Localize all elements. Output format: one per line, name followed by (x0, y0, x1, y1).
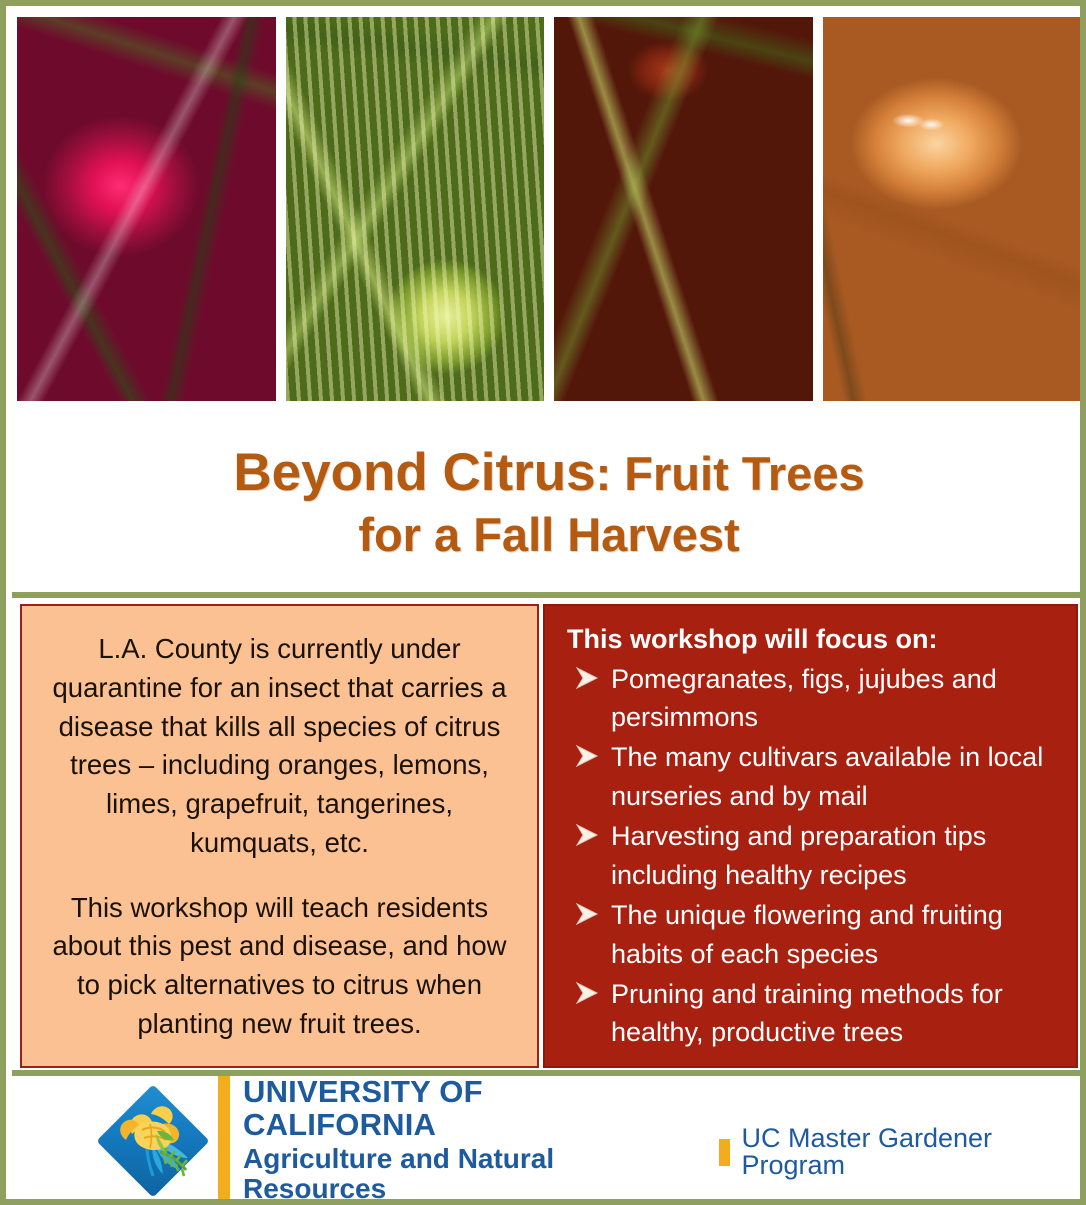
quarantine-paragraph-1: L.A. County is currently under quarantin… (44, 630, 515, 863)
flyer-page: Beyond Citrus: Fruit Trees for a Fall Ha… (0, 0, 1086, 1205)
uc-anr-logo-icon (102, 1090, 204, 1192)
title-divider (12, 592, 1086, 598)
quarantine-paragraph-2: This workshop will teach residents about… (44, 889, 515, 1044)
arrow-bullet-icon (571, 741, 601, 771)
list-item-label: Harvesting and preparation tips includin… (611, 821, 986, 890)
page-title-remainder: : Fruit Trees (596, 447, 865, 500)
list-item: Pomegranates, figs, jujubes and persimmo… (563, 660, 1062, 738)
master-gardener-program-label: UC Master Gardener Program (719, 1125, 1086, 1179)
page-title-line-2: for a Fall Harvest (358, 506, 739, 563)
university-name: UNIVERSITY OF CALIFORNIA (243, 1076, 683, 1142)
page-title-line-1: Beyond Citrus: Fruit Trees (233, 441, 864, 506)
photo-strip (12, 12, 1086, 402)
footer: UNIVERSITY OF CALIFORNIA Agriculture and… (12, 1076, 1086, 1205)
page-title-emphasis: Beyond Citrus (233, 443, 595, 502)
jujube-photo (553, 16, 814, 402)
uc-anr-wordmark: UNIVERSITY OF CALIFORNIA Agriculture and… (218, 1076, 683, 1205)
list-item: The many cultivars available in local nu… (563, 738, 1062, 816)
arrow-bullet-icon (571, 978, 601, 1008)
arrow-bullet-icon (571, 663, 601, 693)
quarantine-info-box: L.A. County is currently under quarantin… (20, 604, 539, 1068)
arrow-bullet-icon (571, 820, 601, 850)
gold-bar-accent (218, 1076, 230, 1205)
division-name: Agriculture and Natural Resources (243, 1144, 683, 1205)
gold-bar-accent-small (719, 1139, 730, 1166)
list-item-label: The unique flowering and fruiting habits… (611, 900, 1003, 969)
persimmon-photo (822, 16, 1083, 402)
workshop-focus-list: Pomegranates, figs, jujubes and persimmo… (563, 660, 1062, 1053)
list-item: Harvesting and preparation tips includin… (563, 817, 1062, 895)
content-row: L.A. County is currently under quarantin… (12, 604, 1086, 1070)
title-block: Beyond Citrus: Fruit Trees for a Fall Ha… (12, 414, 1086, 590)
fig-photo (285, 16, 546, 402)
program-name: UC Master Gardener Program (741, 1125, 1086, 1179)
list-item-label: Pomegranates, figs, jujubes and persimmo… (611, 664, 997, 733)
list-item-label: The many cultivars available in local nu… (611, 742, 1043, 811)
workshop-focus-heading: This workshop will focus on: (563, 622, 1062, 657)
workshop-focus-box: This workshop will focus on: Pomegranate… (543, 604, 1078, 1068)
uc-text-block: UNIVERSITY OF CALIFORNIA Agriculture and… (243, 1076, 683, 1205)
pomegranate-photo (16, 16, 277, 402)
list-item: The unique flowering and fruiting habits… (563, 896, 1062, 974)
poppy-flower-icon (102, 1090, 204, 1192)
list-item-label: Pruning and training methods for healthy… (611, 979, 1003, 1048)
arrow-bullet-icon (571, 899, 601, 929)
list-item: Pruning and training methods for healthy… (563, 975, 1062, 1053)
